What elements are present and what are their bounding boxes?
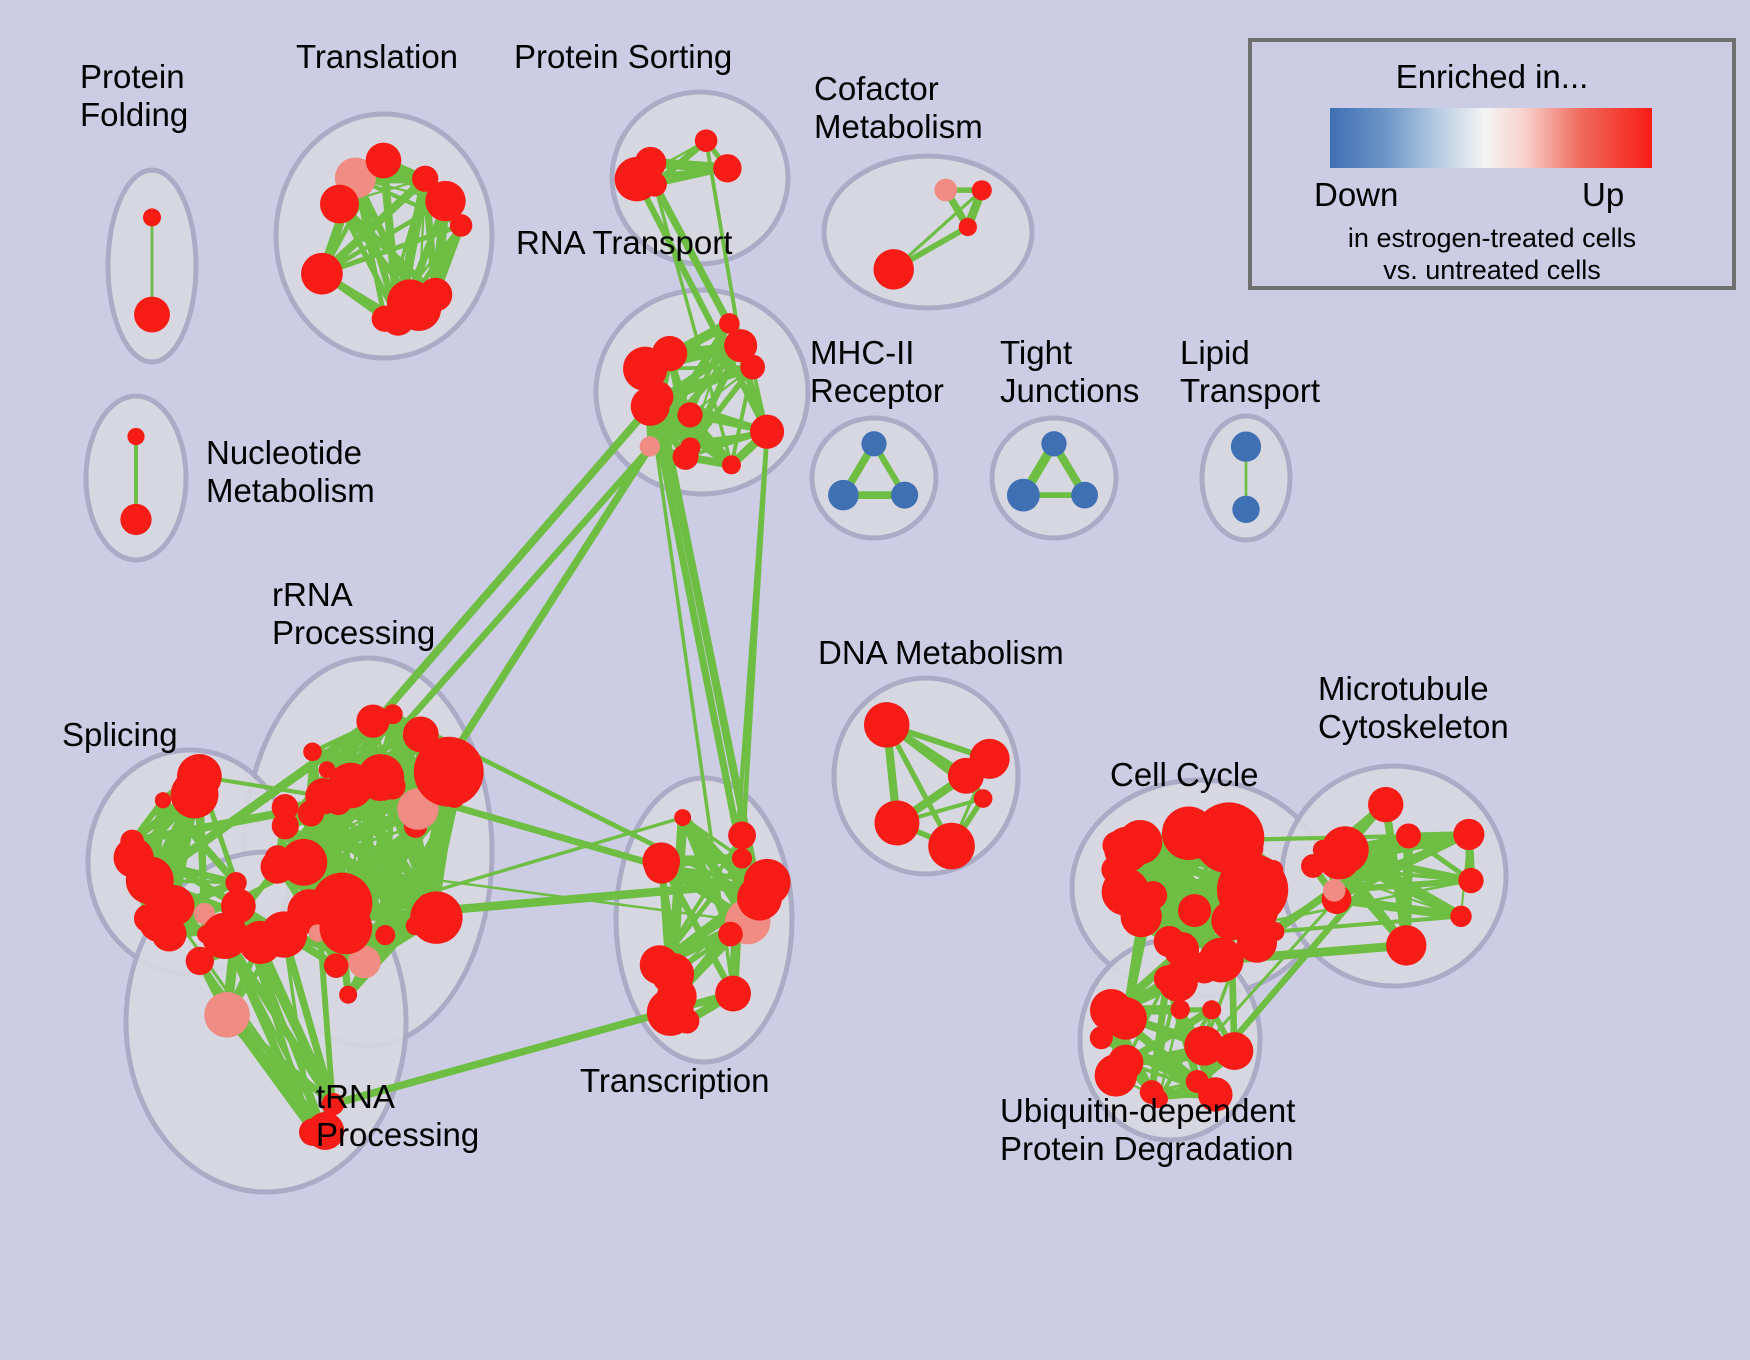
gene-set-node[interactable] <box>750 415 784 449</box>
gene-set-node[interactable] <box>303 743 322 762</box>
gene-set-node[interactable] <box>265 845 291 871</box>
cluster-label-ubiquitin-degradation: Ubiquitin-dependent Protein Degradation <box>1000 1092 1295 1168</box>
cluster-label-rrna-processing: rRNA Processing <box>272 576 435 652</box>
gene-set-node[interactable] <box>272 794 299 821</box>
gene-set-node[interactable] <box>828 480 859 511</box>
gene-set-node[interactable] <box>715 976 751 1012</box>
gene-set-node[interactable] <box>643 172 667 196</box>
gene-set-node[interactable] <box>1093 994 1130 1031</box>
gene-set-node[interactable] <box>972 180 992 200</box>
gene-set-node[interactable] <box>320 902 373 955</box>
gene-set-node[interactable] <box>948 758 984 794</box>
legend-title: Enriched in... <box>1252 58 1732 96</box>
gene-set-node[interactable] <box>928 823 975 870</box>
gene-set-node[interactable] <box>861 431 886 456</box>
cluster-label-cofactor-metabolism: Cofactor Metabolism <box>814 70 983 146</box>
gene-set-node[interactable] <box>339 986 357 1004</box>
gene-set-node[interactable] <box>1186 1070 1209 1093</box>
gene-set-node[interactable] <box>713 154 741 182</box>
gene-set-node[interactable] <box>1202 1000 1221 1019</box>
gene-set-node[interactable] <box>403 717 439 753</box>
gene-set-node[interactable] <box>1178 894 1211 927</box>
gene-set-node[interactable] <box>410 891 462 943</box>
gene-set-node[interactable] <box>143 208 161 226</box>
gene-set-node[interactable] <box>1007 479 1040 512</box>
cluster-label-translation: Translation <box>296 38 458 76</box>
gene-set-node[interactable] <box>640 436 660 456</box>
gene-set-node[interactable] <box>1095 1054 1137 1096</box>
gene-set-node[interactable] <box>444 787 465 808</box>
gene-set-node[interactable] <box>319 761 336 778</box>
gene-set-node[interactable] <box>891 482 918 509</box>
gene-set-node[interactable] <box>412 166 438 192</box>
gene-set-node[interactable] <box>874 800 919 845</box>
gene-set-node[interactable] <box>186 947 214 975</box>
gene-set-node[interactable] <box>873 249 913 289</box>
gene-set-node[interactable] <box>1102 832 1130 860</box>
cluster-label-dna-metabolism: DNA Metabolism <box>818 634 1064 672</box>
gene-set-node[interactable] <box>120 830 144 854</box>
gene-set-node[interactable] <box>1215 1041 1241 1067</box>
gene-set-node[interactable] <box>324 953 349 978</box>
gene-set-node[interactable] <box>732 848 752 868</box>
legend-panel: Enriched in... Down Up in estrogen-treat… <box>1248 38 1736 290</box>
gene-set-node[interactable] <box>674 809 691 826</box>
gene-set-node[interactable] <box>126 856 174 904</box>
gene-set-node[interactable] <box>375 925 395 945</box>
cluster-label-lipid-transport: Lipid Transport <box>1180 334 1320 410</box>
gene-set-node[interactable] <box>450 214 473 237</box>
gene-set-node[interactable] <box>864 702 909 747</box>
gene-set-node[interactable] <box>680 437 700 457</box>
cluster-label-protein-folding: Protein Folding <box>80 58 188 134</box>
gene-set-node[interactable] <box>1396 823 1421 848</box>
gene-set-node[interactable] <box>134 297 170 333</box>
gene-set-node[interactable] <box>1231 432 1261 462</box>
gene-set-node[interactable] <box>382 303 414 335</box>
gene-set-node[interactable] <box>1265 922 1284 941</box>
legend-subtitle-line2: vs. untreated cells <box>1252 254 1732 286</box>
gene-set-node[interactable] <box>357 754 404 801</box>
gene-set-node[interactable] <box>728 822 756 850</box>
gene-set-node[interactable] <box>1071 482 1098 509</box>
legend-color-gradient <box>1330 108 1652 168</box>
network-figure: Protein FoldingTranslationProtein Sortin… <box>0 0 1750 1360</box>
cluster-label-splicing: Splicing <box>62 716 178 754</box>
gene-set-node[interactable] <box>1164 932 1199 967</box>
cluster-label-protein-sorting: Protein Sorting <box>514 38 732 76</box>
gene-set-node[interactable] <box>677 402 702 427</box>
gene-set-node[interactable] <box>320 185 359 224</box>
cluster-label-nucleotide-metabolism: Nucleotide Metabolism <box>206 434 375 510</box>
gene-set-node[interactable] <box>1217 854 1288 925</box>
cluster-label-rna-transport: RNA Transport <box>516 224 732 262</box>
cluster-label-cell-cycle: Cell Cycle <box>1110 756 1259 794</box>
gene-set-node[interactable] <box>722 455 741 474</box>
gene-set-node[interactable] <box>383 704 403 724</box>
gene-set-node[interactable] <box>1386 925 1426 965</box>
legend-subtitle-line1: in estrogen-treated cells <box>1252 222 1732 254</box>
gene-set-node[interactable] <box>744 859 791 906</box>
gene-set-node[interactable] <box>1232 496 1259 523</box>
gene-set-node[interactable] <box>1318 837 1361 880</box>
cluster-label-mhc-ii-receptor: MHC-II Receptor <box>810 334 944 410</box>
gene-set-node[interactable] <box>934 179 957 202</box>
cluster-label-trna-processing: tRNA Processing <box>316 1078 479 1154</box>
gene-set-node[interactable] <box>1368 787 1403 822</box>
gene-set-node[interactable] <box>959 218 977 236</box>
gene-set-node[interactable] <box>127 428 144 445</box>
cluster-label-microtubule-cytoskeleton: Microtubule Cytoskeleton <box>1318 670 1509 746</box>
gene-set-node[interactable] <box>152 917 187 952</box>
gene-set-node[interactable] <box>120 504 151 535</box>
gene-set-node[interactable] <box>1158 962 1198 1002</box>
gene-set-node[interactable] <box>718 922 743 947</box>
legend-high-label: Up <box>1582 176 1624 214</box>
gene-set-node[interactable] <box>1301 854 1325 878</box>
cluster-label-tight-junctions: Tight Junctions <box>1000 334 1139 410</box>
gene-set-node[interactable] <box>657 976 697 1016</box>
gene-set-node[interactable] <box>1458 868 1483 893</box>
cluster-hull-cofactor-metabolism <box>824 156 1032 308</box>
gene-set-node[interactable] <box>1041 431 1066 456</box>
legend-low-label: Down <box>1314 176 1398 214</box>
gene-set-node[interactable] <box>642 381 673 412</box>
gene-set-node[interactable] <box>366 143 402 179</box>
gene-set-node[interactable] <box>177 754 222 799</box>
gene-set-node[interactable] <box>695 129 718 152</box>
gene-set-node[interactable] <box>974 789 993 808</box>
gene-set-node[interactable] <box>1171 1000 1190 1019</box>
gene-set-node[interactable] <box>1121 896 1162 937</box>
cluster-label-transcription: Transcription <box>580 1062 770 1100</box>
gene-set-node[interactable] <box>642 842 680 880</box>
gene-set-node[interactable] <box>301 253 343 295</box>
gene-set-node[interactable] <box>1453 819 1484 850</box>
gene-set-node[interactable] <box>1162 807 1215 860</box>
gene-set-node[interactable] <box>1450 906 1471 927</box>
gene-set-node[interactable] <box>204 992 250 1038</box>
gene-set-node[interactable] <box>740 355 765 380</box>
legend-subtitle: in estrogen-treated cells vs. untreated … <box>1252 222 1732 286</box>
gene-set-node[interactable] <box>1199 938 1244 983</box>
gene-set-node[interactable] <box>305 778 341 814</box>
gene-set-node[interactable] <box>1323 879 1346 902</box>
gene-set-node[interactable] <box>261 911 307 957</box>
gene-set-node[interactable] <box>155 792 171 808</box>
